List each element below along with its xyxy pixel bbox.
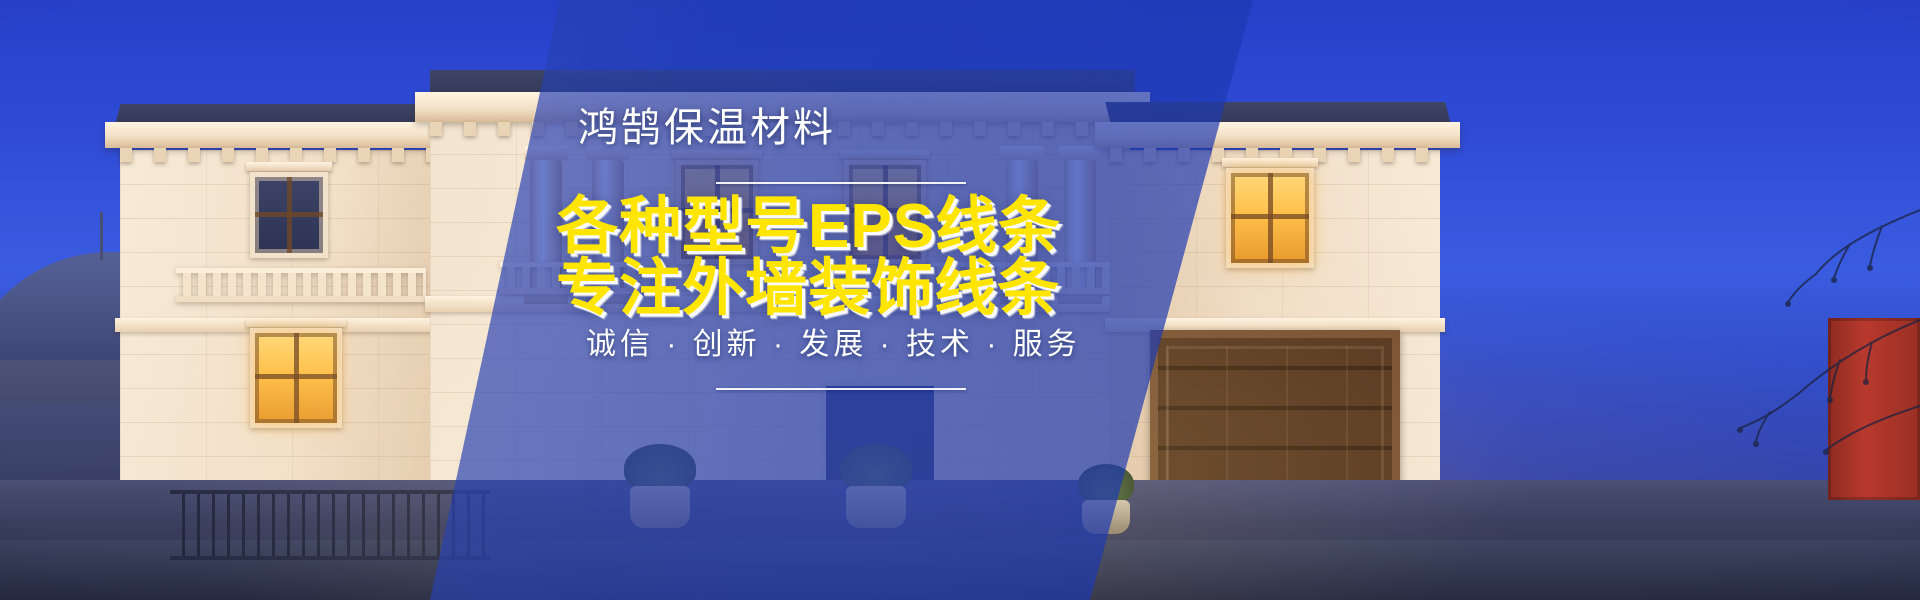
divider-line-bottom [716,388,966,390]
brand-name: 鸿鹄保温材料 [578,108,836,148]
promo-banner: 鸿鹄保温材料 各种型号EPS线条 专注外墙装饰线条 诚信 · 创新 · 发展 ·… [0,0,1920,600]
divider-line-top [716,182,966,184]
tagline: 诚信 · 创新 · 发展 · 技术 · 服务 [586,330,1081,360]
headline-line-1: 各种型号EPS线条 [556,196,1061,258]
banner-content: 鸿鹄保温材料 各种型号EPS线条 专注外墙装饰线条 诚信 · 创新 · 发展 ·… [0,0,1920,600]
headline-line-2: 专注外墙装饰线条 [556,258,1060,320]
